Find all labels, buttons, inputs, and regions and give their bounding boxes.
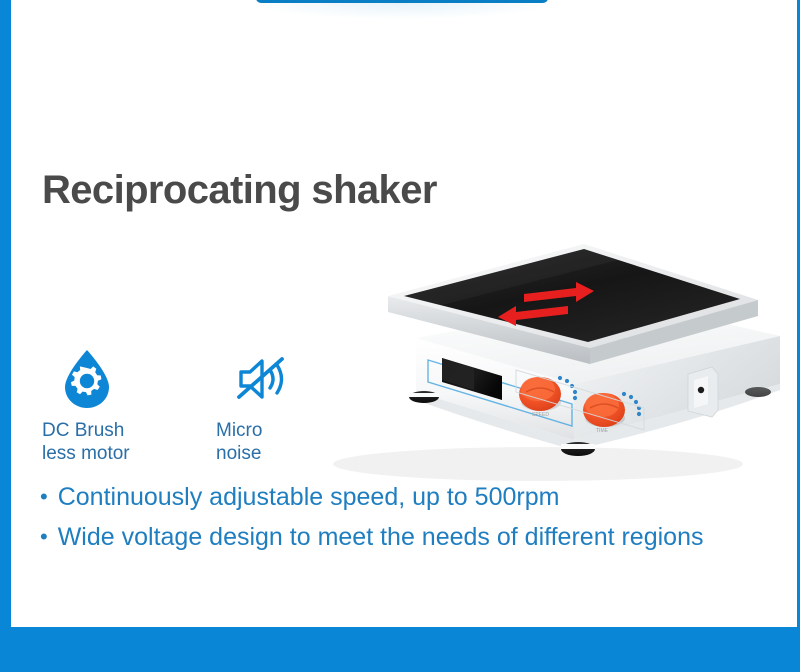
bullet-item: • Continuously adjustable speed, up to 5… <box>40 478 788 518</box>
feature-bullet-list: • Continuously adjustable speed, up to 5… <box>40 478 788 557</box>
bullet-marker: • <box>40 486 48 508</box>
speed-knob-label: SPEED <box>532 412 549 418</box>
feature-badge-list: DC Brush less motor Micro noise <box>42 348 338 465</box>
timer-knob-label: TIME <box>596 428 609 434</box>
power-switch-indicator <box>698 387 704 393</box>
page-title: Reciprocating shaker <box>42 168 437 213</box>
muted-speaker-icon <box>222 348 300 410</box>
foot-right <box>745 387 771 397</box>
feature-label: DC Brush less motor <box>42 419 130 465</box>
bullet-marker: • <box>40 526 48 548</box>
speed-knob-cap <box>521 377 555 401</box>
feature-micro-noise: Micro noise <box>216 348 338 465</box>
bullet-text: Wide voltage design to meet the needs of… <box>58 518 704 558</box>
top-tab-pill <box>256 0 548 3</box>
feature-dc-brushless-motor: DC Brush less motor <box>42 348 164 465</box>
water-drop-gear-icon <box>48 348 126 410</box>
bullet-text: Continuously adjustable speed, up to 500… <box>58 478 560 518</box>
frame-bottom-bar <box>0 627 800 672</box>
timer-knob-cap <box>585 393 619 417</box>
frame-left-bar <box>0 0 11 672</box>
power-switch-group <box>688 367 718 417</box>
device-shadow <box>333 447 743 481</box>
product-banner: SPEED TIME <box>0 0 800 672</box>
bullet-item: • Wide voltage design to meet the needs … <box>40 518 788 558</box>
reciprocating-shaker-illustration: SPEED TIME <box>288 178 800 490</box>
feature-label: Micro noise <box>216 419 262 465</box>
top-pill-glow <box>252 3 552 19</box>
foot-front-center-clip <box>561 444 595 449</box>
foot-front-left-clip <box>409 393 439 397</box>
